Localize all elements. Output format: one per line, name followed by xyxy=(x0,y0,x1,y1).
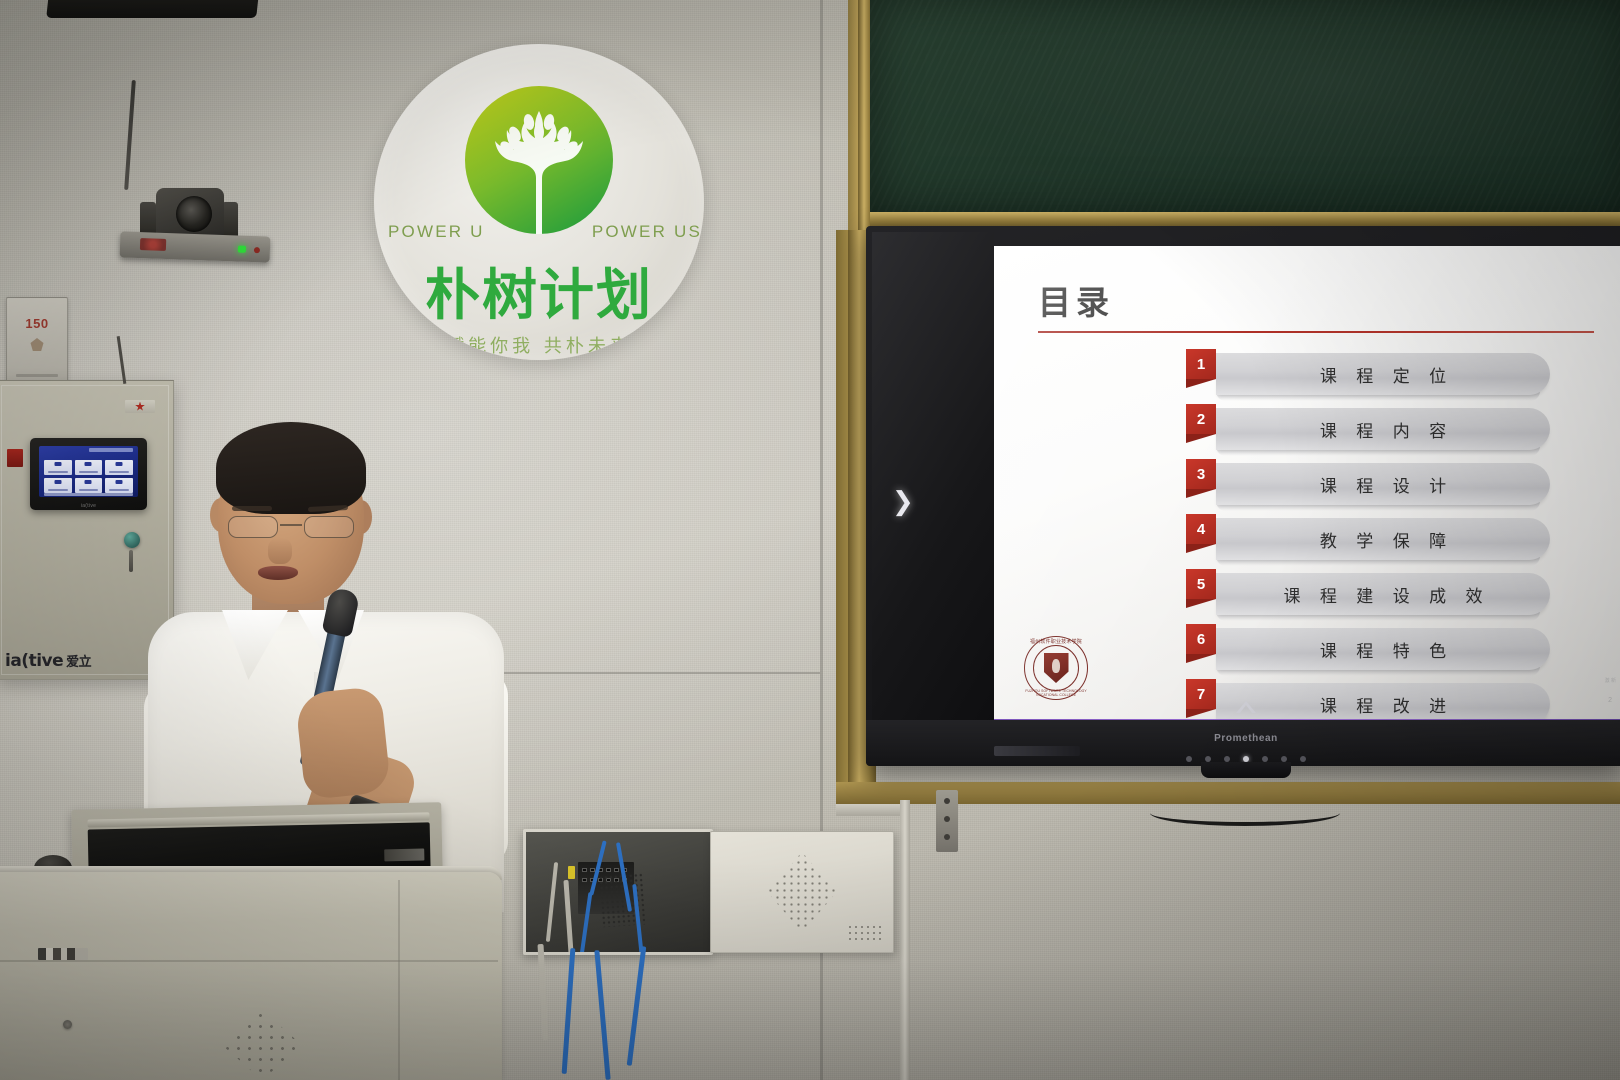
display-left-dark-area xyxy=(872,232,994,730)
patch-port xyxy=(606,868,611,872)
ceiling-mounted-speaker xyxy=(46,0,260,18)
chalkboard-texture xyxy=(870,0,1620,212)
toc-bar: 课 程 内 容 xyxy=(1216,408,1550,450)
display-ir-sensor-strip xyxy=(994,746,1080,756)
touch-panel-screen[interactable] xyxy=(39,446,138,497)
toc-item-number: 5 xyxy=(1186,569,1216,599)
college-seal-icon: 福州软件职业技术学院 FUZHOU SOFTWARE TECHNOLOGY VO… xyxy=(1024,636,1088,700)
camera-wall-bracket xyxy=(120,231,271,262)
promethean-interactive-display[interactable]: ❯ 目录 课 程 定 位 1 课 程 内 容 xyxy=(866,226,1620,766)
toc-item[interactable]: 课 程 特 色 6 xyxy=(1038,622,1594,673)
tile-label xyxy=(79,471,99,473)
glasses-bridge xyxy=(280,524,302,526)
toc-item-label: 课 程 特 色 xyxy=(1313,637,1453,662)
cabinet-brand-text: ia(tive xyxy=(5,651,63,671)
cabinet-brand-label: ia(tive爱立 xyxy=(5,651,91,671)
camera-lens-icon xyxy=(176,196,212,232)
presenter-hair xyxy=(216,422,366,514)
patch-port xyxy=(582,868,587,872)
slide-title: 目录 xyxy=(1038,286,1594,319)
promethean-chevron-logo-icon xyxy=(1235,700,1257,714)
wall-network-enclosure[interactable] xyxy=(523,829,713,955)
table-of-contents: 课 程 定 位 1 课 程 内 容 2 课 程 设 xyxy=(1038,347,1594,720)
bracket-hole xyxy=(944,816,950,822)
display-brand-label: Promethean xyxy=(1214,733,1278,744)
monitor-brand-label xyxy=(384,849,424,862)
toc-item-label: 课 程 建 设 成 效 xyxy=(1276,582,1489,607)
chalkboard-surface xyxy=(870,0,1620,212)
touch-panel-tile[interactable] xyxy=(105,460,133,475)
touch-panel-tile[interactable] xyxy=(75,478,103,493)
tile-label xyxy=(48,489,68,491)
room-number-text: 150 xyxy=(7,316,67,331)
toc-item-label: 课 程 设 计 xyxy=(1313,472,1453,497)
camera-status-led-icon xyxy=(238,246,246,253)
chalkboard-frame-left xyxy=(858,0,870,230)
cover-vent-pattern xyxy=(767,852,837,932)
presenter-hand xyxy=(295,686,392,800)
lens-left xyxy=(228,516,278,538)
camera-record-led-icon xyxy=(254,247,260,253)
display-settings-button[interactable] xyxy=(1300,756,1306,762)
display-power-button[interactable] xyxy=(1186,756,1192,762)
cabinet-brand-cn: 爱立 xyxy=(66,655,91,670)
presenter-eyebrow-left xyxy=(232,506,272,511)
sign-line xyxy=(16,374,58,377)
lectern-panel-seam-vertical xyxy=(398,880,400,1080)
toc-item-label: 课 程 内 容 xyxy=(1313,417,1453,442)
eyeglasses-icon xyxy=(226,516,356,540)
tile-icon xyxy=(54,480,61,484)
bracket-hole xyxy=(944,834,950,840)
cable-conduit-vertical xyxy=(900,800,910,1080)
cable-tag-icon xyxy=(568,866,575,879)
seal-top-text: 福州软件职业技术学院 xyxy=(1025,638,1087,645)
toc-bar: 课 程 设 计 xyxy=(1216,463,1550,505)
cabinet-indicator-light-icon xyxy=(124,532,140,548)
wall-logo-plaque: POWER U POWER US 朴树计划 赋能你我 共朴未来 xyxy=(374,44,704,360)
tile-icon xyxy=(54,462,61,466)
toc-item-number: 2 xyxy=(1186,404,1216,434)
star-icon xyxy=(135,402,145,412)
touch-panel-tile[interactable] xyxy=(75,460,103,475)
seal-bottom-text: FUZHOU SOFTWARE TECHNOLOGY VOCATIONAL CO… xyxy=(1025,689,1087,697)
toc-item-number: 7 xyxy=(1186,679,1216,709)
toc-item-number: 4 xyxy=(1186,514,1216,544)
tile-icon xyxy=(116,462,123,466)
touch-panel-header-bar xyxy=(89,448,133,452)
toc-bar: 课 程 改 进 xyxy=(1216,683,1550,720)
toc-item-label: 教 学 保 障 xyxy=(1313,527,1453,552)
toc-bar: 教 学 保 障 xyxy=(1216,518,1550,560)
seal-inner-ring xyxy=(1033,645,1079,691)
tile-icon xyxy=(116,480,123,484)
tile-label xyxy=(109,471,129,473)
green-chalkboard xyxy=(848,0,1620,230)
toc-item-number: 3 xyxy=(1186,459,1216,489)
slide-page-number: 2 xyxy=(1608,697,1612,704)
slide-title-rule xyxy=(1038,331,1594,333)
toc-bar: 课 程 定 位 xyxy=(1216,353,1550,395)
camera-brand-sticker xyxy=(140,238,166,251)
slide-edge-note: 激 新 xyxy=(1605,678,1616,686)
lectern-panel-seam xyxy=(0,960,498,962)
av-touch-panel[interactable]: ia(tive xyxy=(30,438,147,510)
tile-label xyxy=(109,489,129,491)
logo-power-us-text: POWER US xyxy=(592,222,702,242)
cover-vent-small xyxy=(847,924,883,942)
presenter-nose xyxy=(268,538,292,564)
display-wall-mount-bracket xyxy=(936,790,958,852)
classroom-photo: 150 POWER U POWER US 朴树计划 赋能你我 共朴未来 xyxy=(0,0,1620,1080)
display-power-cord xyxy=(1150,800,1340,826)
logo-chinese-title: 朴树计划 xyxy=(374,268,704,323)
tile-icon xyxy=(85,480,92,484)
sign-emblem-icon xyxy=(31,338,44,351)
logo-tagline: 赋能你我 共朴未来 xyxy=(374,332,704,358)
tile-icon xyxy=(85,462,92,466)
lectern-label-sticker xyxy=(38,948,88,960)
touch-panel-tile-grid[interactable] xyxy=(44,460,133,493)
toc-item-label: 课 程 改 进 xyxy=(1313,692,1453,717)
cabinet-warning-sticker xyxy=(7,449,23,467)
toc-item[interactable]: 课 程 定 位 1 xyxy=(1038,347,1594,398)
lens-right xyxy=(304,516,354,538)
cabinet-badge xyxy=(125,400,155,413)
bracket-hole xyxy=(944,798,950,804)
cabinet-lock-icon[interactable] xyxy=(129,550,133,572)
chalkboard-frame-left-outer xyxy=(848,0,858,230)
toc-item-number: 6 xyxy=(1186,624,1216,654)
toc-item[interactable]: 课 程 内 容 2 xyxy=(1038,402,1594,453)
toc-item[interactable]: 课 程 设 计 3 xyxy=(1038,457,1594,508)
touch-panel-tile[interactable] xyxy=(105,478,133,493)
touch-panel-status-bar xyxy=(44,493,133,496)
tree-icon xyxy=(465,86,613,234)
network-enclosure-cover[interactable] xyxy=(710,831,894,953)
tile-label xyxy=(48,471,68,473)
display-screen[interactable]: 目录 课 程 定 位 1 课 程 内 容 xyxy=(994,246,1620,720)
touch-panel-brand-label: ia(tive xyxy=(81,503,96,509)
toc-bar: 课 程 特 色 xyxy=(1216,628,1550,670)
ptz-camera xyxy=(112,176,282,286)
tile-label xyxy=(79,489,99,491)
toc-item-label: 课 程 定 位 xyxy=(1313,362,1453,387)
toc-item[interactable]: 教 学 保 障 4 xyxy=(1038,512,1594,563)
patch-port xyxy=(582,878,587,882)
presentation-slide: 目录 课 程 定 位 1 课 程 内 容 xyxy=(994,246,1620,720)
display-bottom-mount xyxy=(1201,762,1291,778)
presenter-mouth xyxy=(258,566,298,580)
toc-item[interactable]: 课 程 改 进 7 xyxy=(1038,677,1594,720)
patch-port xyxy=(614,868,619,872)
lectern-lock-icon[interactable] xyxy=(63,1020,72,1029)
chevron-right-icon[interactable]: ❯ xyxy=(892,488,914,514)
toc-item[interactable]: 课 程 建 设 成 效 5 xyxy=(1038,567,1594,618)
seal-shield-icon xyxy=(1044,653,1069,683)
toc-bar: 课 程 建 设 成 效 xyxy=(1216,573,1550,615)
toc-item-number: 1 xyxy=(1186,349,1216,379)
touch-panel-tile[interactable] xyxy=(44,460,72,475)
cable-conduit-horizontal xyxy=(836,804,900,816)
touch-panel-tile[interactable] xyxy=(44,478,72,493)
logo-power-u-text: POWER U xyxy=(388,222,485,242)
